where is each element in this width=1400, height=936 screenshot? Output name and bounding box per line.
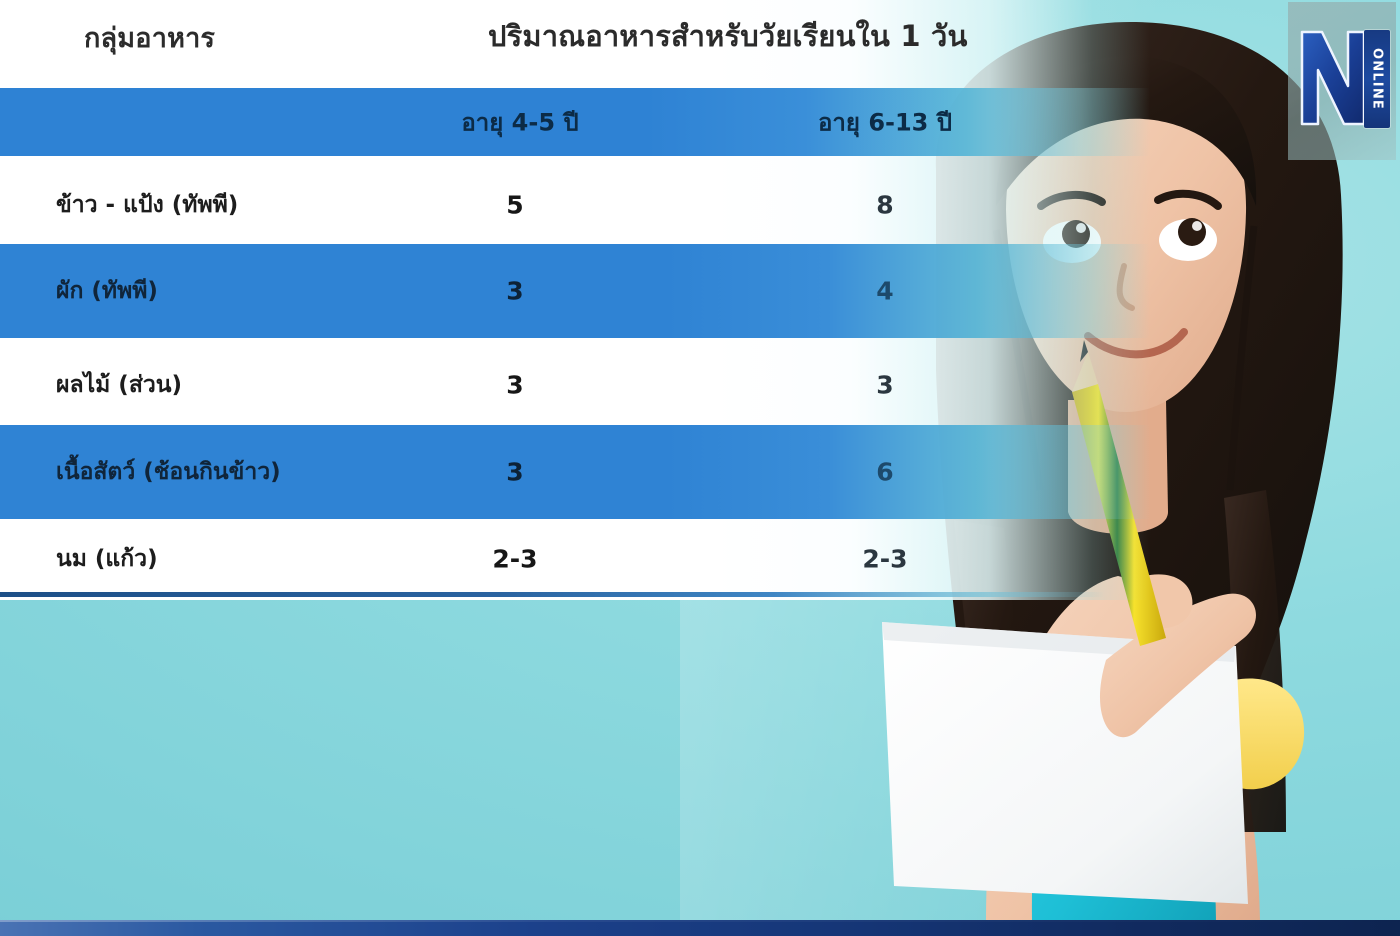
row-label: ผัก (ทัพพี) <box>56 273 158 309</box>
row-value-age-6-13: 4 <box>810 277 960 306</box>
screen-stage: กลุ่มอาหาร ปริมาณอาหารสำหรับวัยเรียนใน 1… <box>0 0 1400 936</box>
row-value-age-6-13: 8 <box>810 191 960 220</box>
row-value-age-4-5: 2-3 <box>440 545 590 574</box>
channel-logo: ONLINE <box>1288 2 1396 160</box>
table-row: ข้าว - แป้ง (ทัพพี) 5 8 <box>0 158 1150 252</box>
table-main-header: ปริมาณอาหารสำหรับวัยเรียนใน 1 วัน <box>488 13 968 59</box>
table-row: เนื้อสัตว์ (ช้อนกินข้าว) 3 6 <box>0 425 1150 519</box>
age-column-header-6-13: อายุ 6-13 ปี <box>800 103 970 142</box>
nutrition-table-panel: กลุ่มอาหาร ปริมาณอาหารสำหรับวัยเรียนใน 1… <box>0 0 1150 600</box>
table-title-row: กลุ่มอาหาร ปริมาณอาหารสำหรับวัยเรียนใน 1… <box>0 0 1150 86</box>
row-label: ผลไม้ (ส่วน) <box>56 367 182 403</box>
table-bottom-divider <box>0 592 1105 597</box>
column-header-food-group: กลุ่มอาหาร <box>84 16 215 59</box>
logo-wordmark-text: ONLINE <box>1370 48 1385 110</box>
row-value-age-4-5: 3 <box>440 458 590 487</box>
row-value-age-4-5: 3 <box>440 277 590 306</box>
row-label: นม (แก้ว) <box>56 541 158 577</box>
logo-wordmark-online: ONLINE <box>1364 30 1390 128</box>
age-header-strip: อายุ 4-5 ปี อายุ 6-13 ปี <box>0 88 1150 156</box>
row-label: ข้าว - แป้ง (ทัพพี) <box>56 187 238 223</box>
bottom-bar <box>0 920 1400 936</box>
row-value-age-6-13: 3 <box>810 371 960 400</box>
age-column-header-4-5: อายุ 4-5 ปี <box>440 103 600 142</box>
row-value-age-4-5: 5 <box>440 191 590 220</box>
row-value-age-4-5: 3 <box>440 371 590 400</box>
logo-letter-n-icon <box>1298 28 1368 128</box>
table-row: ผลไม้ (ส่วน) 3 3 <box>0 338 1150 432</box>
row-value-age-6-13: 6 <box>810 458 960 487</box>
row-value-age-6-13: 2-3 <box>810 545 960 574</box>
row-label: เนื้อสัตว์ (ช้อนกินข้าว) <box>56 454 281 490</box>
table-row: ผัก (ทัพพี) 3 4 <box>0 244 1150 338</box>
